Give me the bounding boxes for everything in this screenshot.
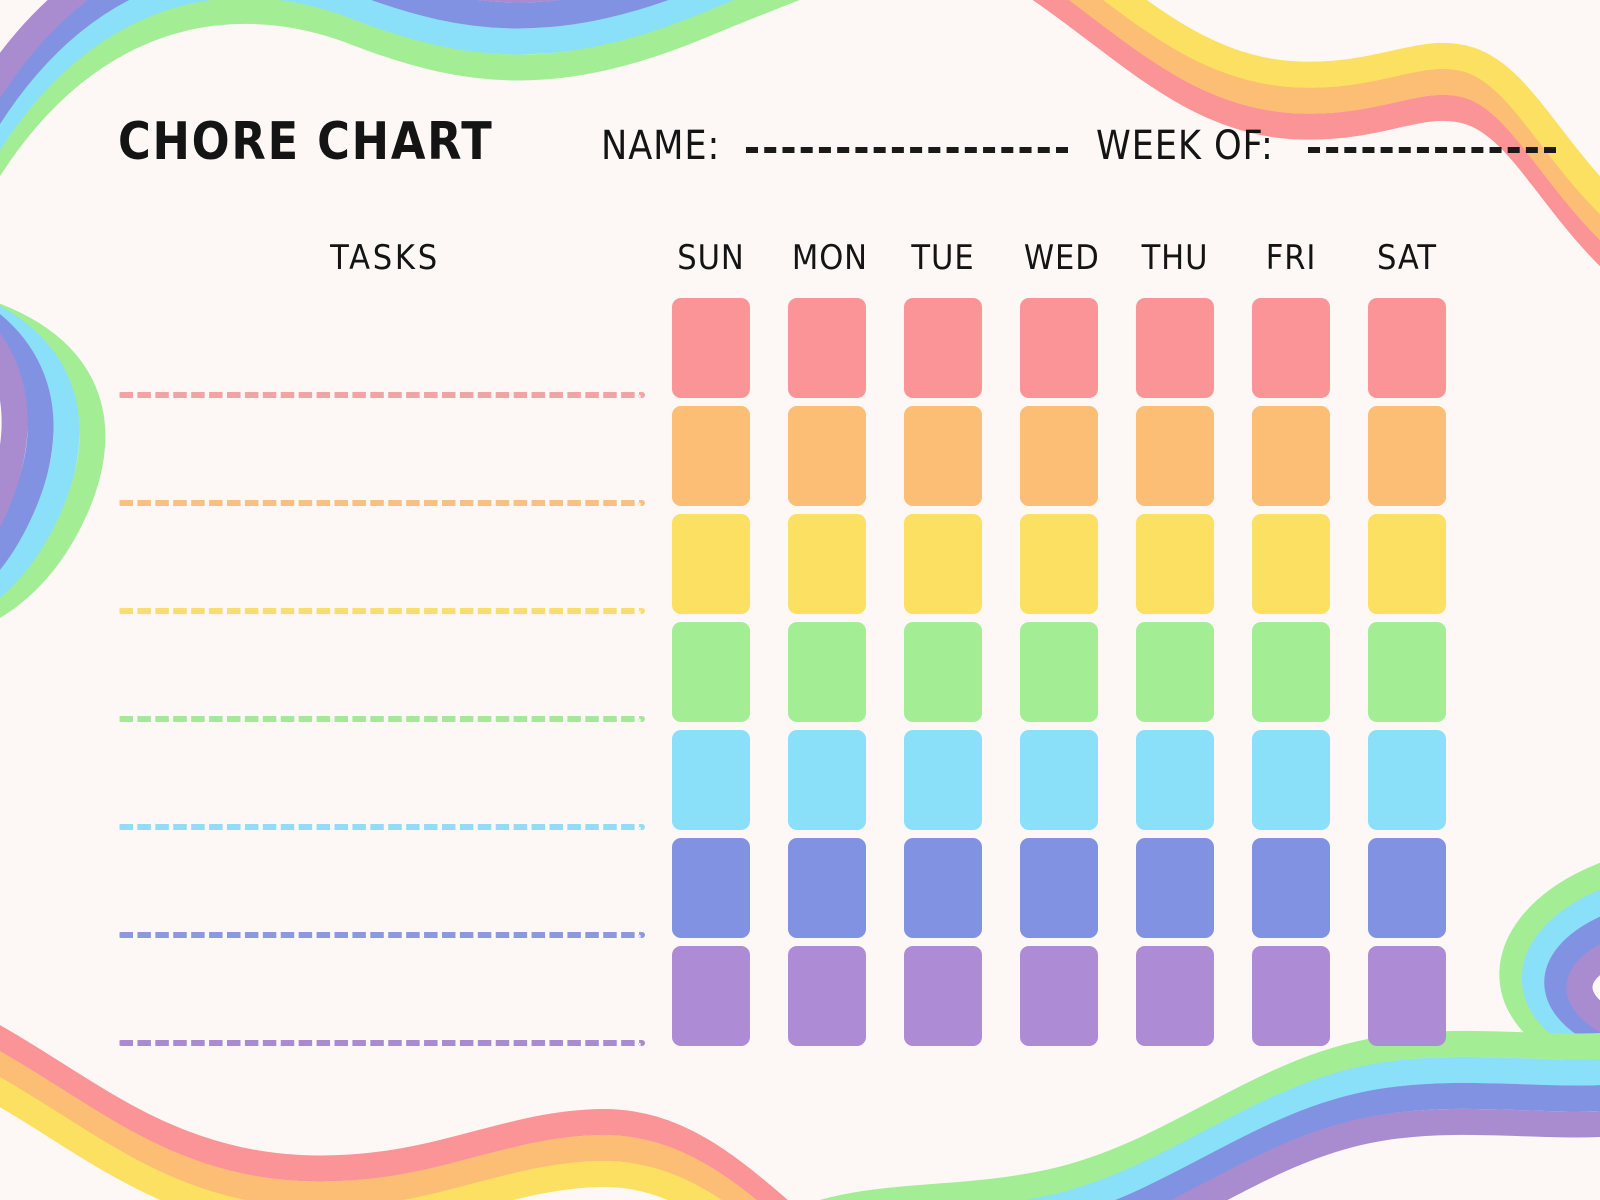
task-name-cell [118, 514, 672, 614]
chore-checkbox-tue[interactable] [904, 622, 982, 722]
chore-checkbox-wed[interactable] [1020, 514, 1098, 614]
chore-checkbox-fri[interactable] [1252, 298, 1330, 398]
day-header-thu: THU [1140, 238, 1210, 278]
chore-checkbox-sat[interactable] [1368, 838, 1446, 938]
chore-grid [118, 298, 1446, 1054]
task-name-cell [118, 838, 672, 938]
day-header-tue: TUE [908, 238, 978, 278]
chore-checkbox-sat[interactable] [1368, 622, 1446, 722]
checkbox-cells [672, 514, 1446, 614]
day-header-fri: FRI [1256, 238, 1326, 278]
chore-checkbox-sun[interactable] [672, 946, 750, 1046]
chore-checkbox-mon[interactable] [788, 622, 866, 722]
table-row [118, 730, 1446, 838]
chore-checkbox-tue[interactable] [904, 406, 982, 506]
task-input-line[interactable] [118, 932, 645, 938]
chore-checkbox-fri[interactable] [1252, 730, 1330, 830]
week-of-field-group: WEEK OF: [1096, 123, 1556, 169]
chore-checkbox-tue[interactable] [904, 838, 982, 938]
chore-checkbox-tue[interactable] [904, 298, 982, 398]
checkbox-cells [672, 622, 1446, 722]
chore-chart-page: CHORE CHART NAME: WEEK OF: TASKS SUNMONT… [0, 0, 1600, 1200]
tasks-column-header: TASKS [255, 238, 516, 278]
task-input-line[interactable] [118, 716, 645, 722]
task-input-line[interactable] [118, 608, 645, 614]
chore-checkbox-sun[interactable] [672, 298, 750, 398]
table-row [118, 298, 1446, 406]
table-row [118, 838, 1446, 946]
chore-checkbox-wed[interactable] [1020, 406, 1098, 506]
chore-checkbox-thu[interactable] [1136, 298, 1214, 398]
chart-header: CHORE CHART NAME: WEEK OF: [118, 112, 1478, 192]
chore-checkbox-thu[interactable] [1136, 838, 1214, 938]
day-header-sun: SUN [676, 238, 746, 278]
checkbox-cells [672, 406, 1446, 506]
chore-checkbox-wed[interactable] [1020, 730, 1098, 830]
chore-checkbox-wed[interactable] [1020, 838, 1098, 938]
chore-checkbox-thu[interactable] [1136, 406, 1214, 506]
chore-checkbox-fri[interactable] [1252, 622, 1330, 722]
day-header-sat: SAT [1372, 238, 1442, 278]
chore-checkbox-mon[interactable] [788, 730, 866, 830]
task-name-cell [118, 946, 672, 1046]
chore-checkbox-mon[interactable] [788, 946, 866, 1046]
chore-checkbox-sun[interactable] [672, 406, 750, 506]
checkbox-cells [672, 946, 1446, 1046]
chore-checkbox-wed[interactable] [1020, 622, 1098, 722]
chore-checkbox-sat[interactable] [1368, 406, 1446, 506]
checkbox-cells [672, 730, 1446, 830]
task-name-cell [118, 406, 672, 506]
chore-checkbox-tue[interactable] [904, 946, 982, 1046]
week-of-label: WEEK OF: [1096, 123, 1274, 169]
day-header-mon: MON [792, 238, 862, 278]
table-row [118, 946, 1446, 1054]
rainbow-left-loop-icon [0, 270, 92, 632]
task-input-line[interactable] [118, 1040, 645, 1046]
chore-checkbox-mon[interactable] [788, 406, 866, 506]
chore-checkbox-mon[interactable] [788, 298, 866, 398]
chore-checkbox-sun[interactable] [672, 622, 750, 722]
day-header-wed: WED [1024, 238, 1094, 278]
chore-checkbox-wed[interactable] [1020, 946, 1098, 1046]
table-row [118, 514, 1446, 622]
chore-checkbox-thu[interactable] [1136, 730, 1214, 830]
name-field-group: NAME: [601, 123, 1069, 169]
chore-checkbox-mon[interactable] [788, 838, 866, 938]
chore-checkbox-sun[interactable] [672, 730, 750, 830]
day-headers-row: SUNMONTUEWEDTHUFRISAT [672, 238, 1446, 278]
chore-checkbox-thu[interactable] [1136, 622, 1214, 722]
chore-checkbox-tue[interactable] [904, 514, 982, 614]
task-input-line[interactable] [118, 824, 645, 830]
checkbox-cells [672, 838, 1446, 938]
chore-checkbox-sun[interactable] [672, 514, 750, 614]
page-title: CHORE CHART [118, 112, 494, 172]
chore-checkbox-sat[interactable] [1368, 514, 1446, 614]
chore-checkbox-thu[interactable] [1136, 514, 1214, 614]
chore-checkbox-wed[interactable] [1020, 298, 1098, 398]
chore-checkbox-sat[interactable] [1368, 298, 1446, 398]
chore-checkbox-fri[interactable] [1252, 946, 1330, 1046]
name-label: NAME: [601, 123, 720, 169]
chore-checkbox-fri[interactable] [1252, 838, 1330, 938]
task-name-cell [118, 622, 672, 722]
chore-checkbox-sat[interactable] [1368, 946, 1446, 1046]
chore-checkbox-tue[interactable] [904, 730, 982, 830]
chore-checkbox-thu[interactable] [1136, 946, 1214, 1046]
chore-checkbox-mon[interactable] [788, 514, 866, 614]
chore-checkbox-fri[interactable] [1252, 406, 1330, 506]
task-input-line[interactable] [118, 500, 645, 506]
task-input-line[interactable] [118, 392, 645, 398]
chore-checkbox-sat[interactable] [1368, 730, 1446, 830]
table-row [118, 406, 1446, 514]
task-name-cell [118, 298, 672, 398]
table-row [118, 622, 1446, 730]
name-input[interactable] [746, 147, 1068, 153]
task-name-cell [118, 730, 672, 830]
week-of-input[interactable] [1308, 147, 1556, 153]
checkbox-cells [672, 298, 1446, 398]
chore-checkbox-fri[interactable] [1252, 514, 1330, 614]
chore-checkbox-sun[interactable] [672, 838, 750, 938]
